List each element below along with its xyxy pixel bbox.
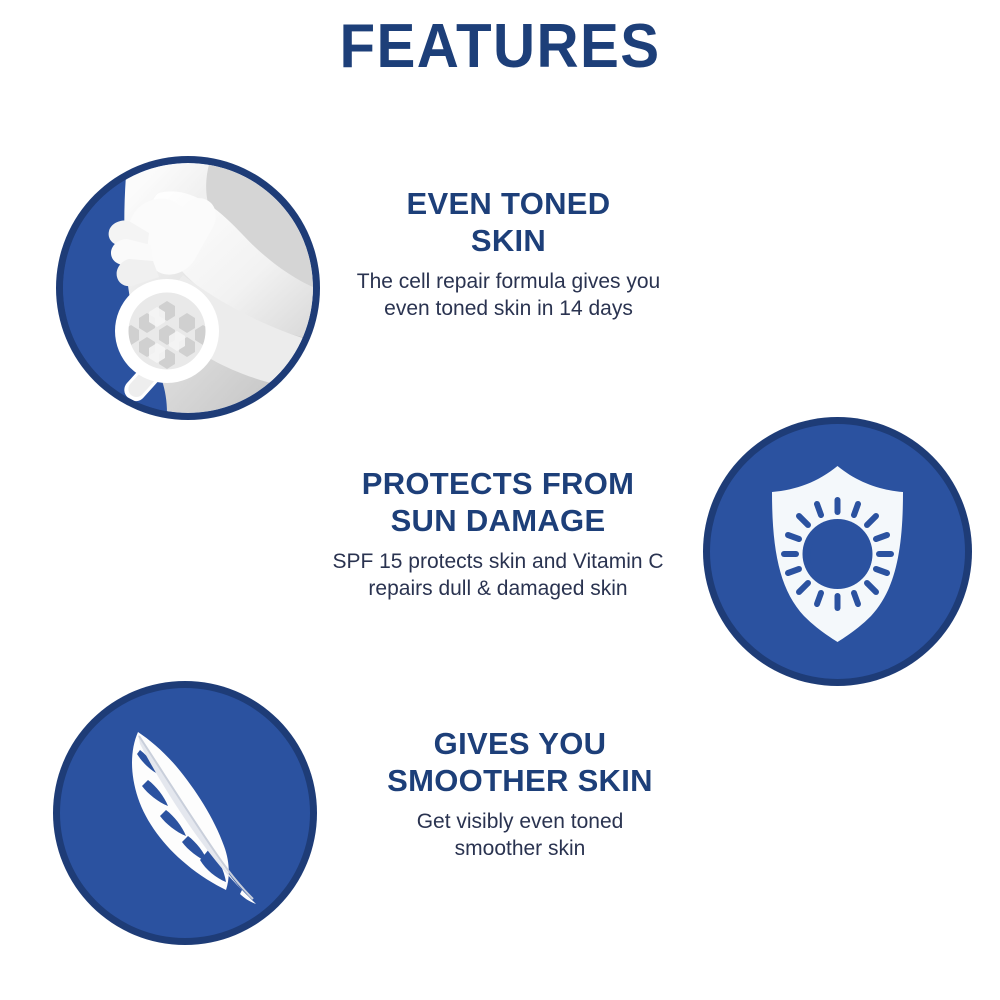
shield-sun-icon	[710, 424, 965, 679]
feature-text-protects-from-sun-damage: PROTECTS FROM SUN DAMAGE SPF 15 protects…	[288, 466, 708, 602]
feature-body: The cell repair formula gives you even t…	[296, 269, 721, 322]
feature-body: Get visibly even toned smoother skin	[315, 809, 725, 862]
feature-body: SPF 15 protects skin and Vitamin C repai…	[288, 549, 708, 602]
feature-heading: PROTECTS FROM SUN DAMAGE	[288, 466, 708, 539]
skin-magnifier-icon	[63, 163, 313, 413]
feature-text-gives-you-smoother-skin: GIVES YOU SMOOTHER SKIN Get visibly even…	[315, 726, 725, 862]
feature-heading: EVEN TONED SKIN	[296, 186, 721, 259]
feature-heading: GIVES YOU SMOOTHER SKIN	[315, 726, 725, 799]
page-title: FEATURES	[30, 16, 970, 78]
feature-text-even-toned-skin: EVEN TONED SKIN The cell repair formula …	[296, 186, 721, 322]
features-panel: FEATURES	[0, 0, 1000, 1000]
feather-icon	[60, 688, 310, 938]
